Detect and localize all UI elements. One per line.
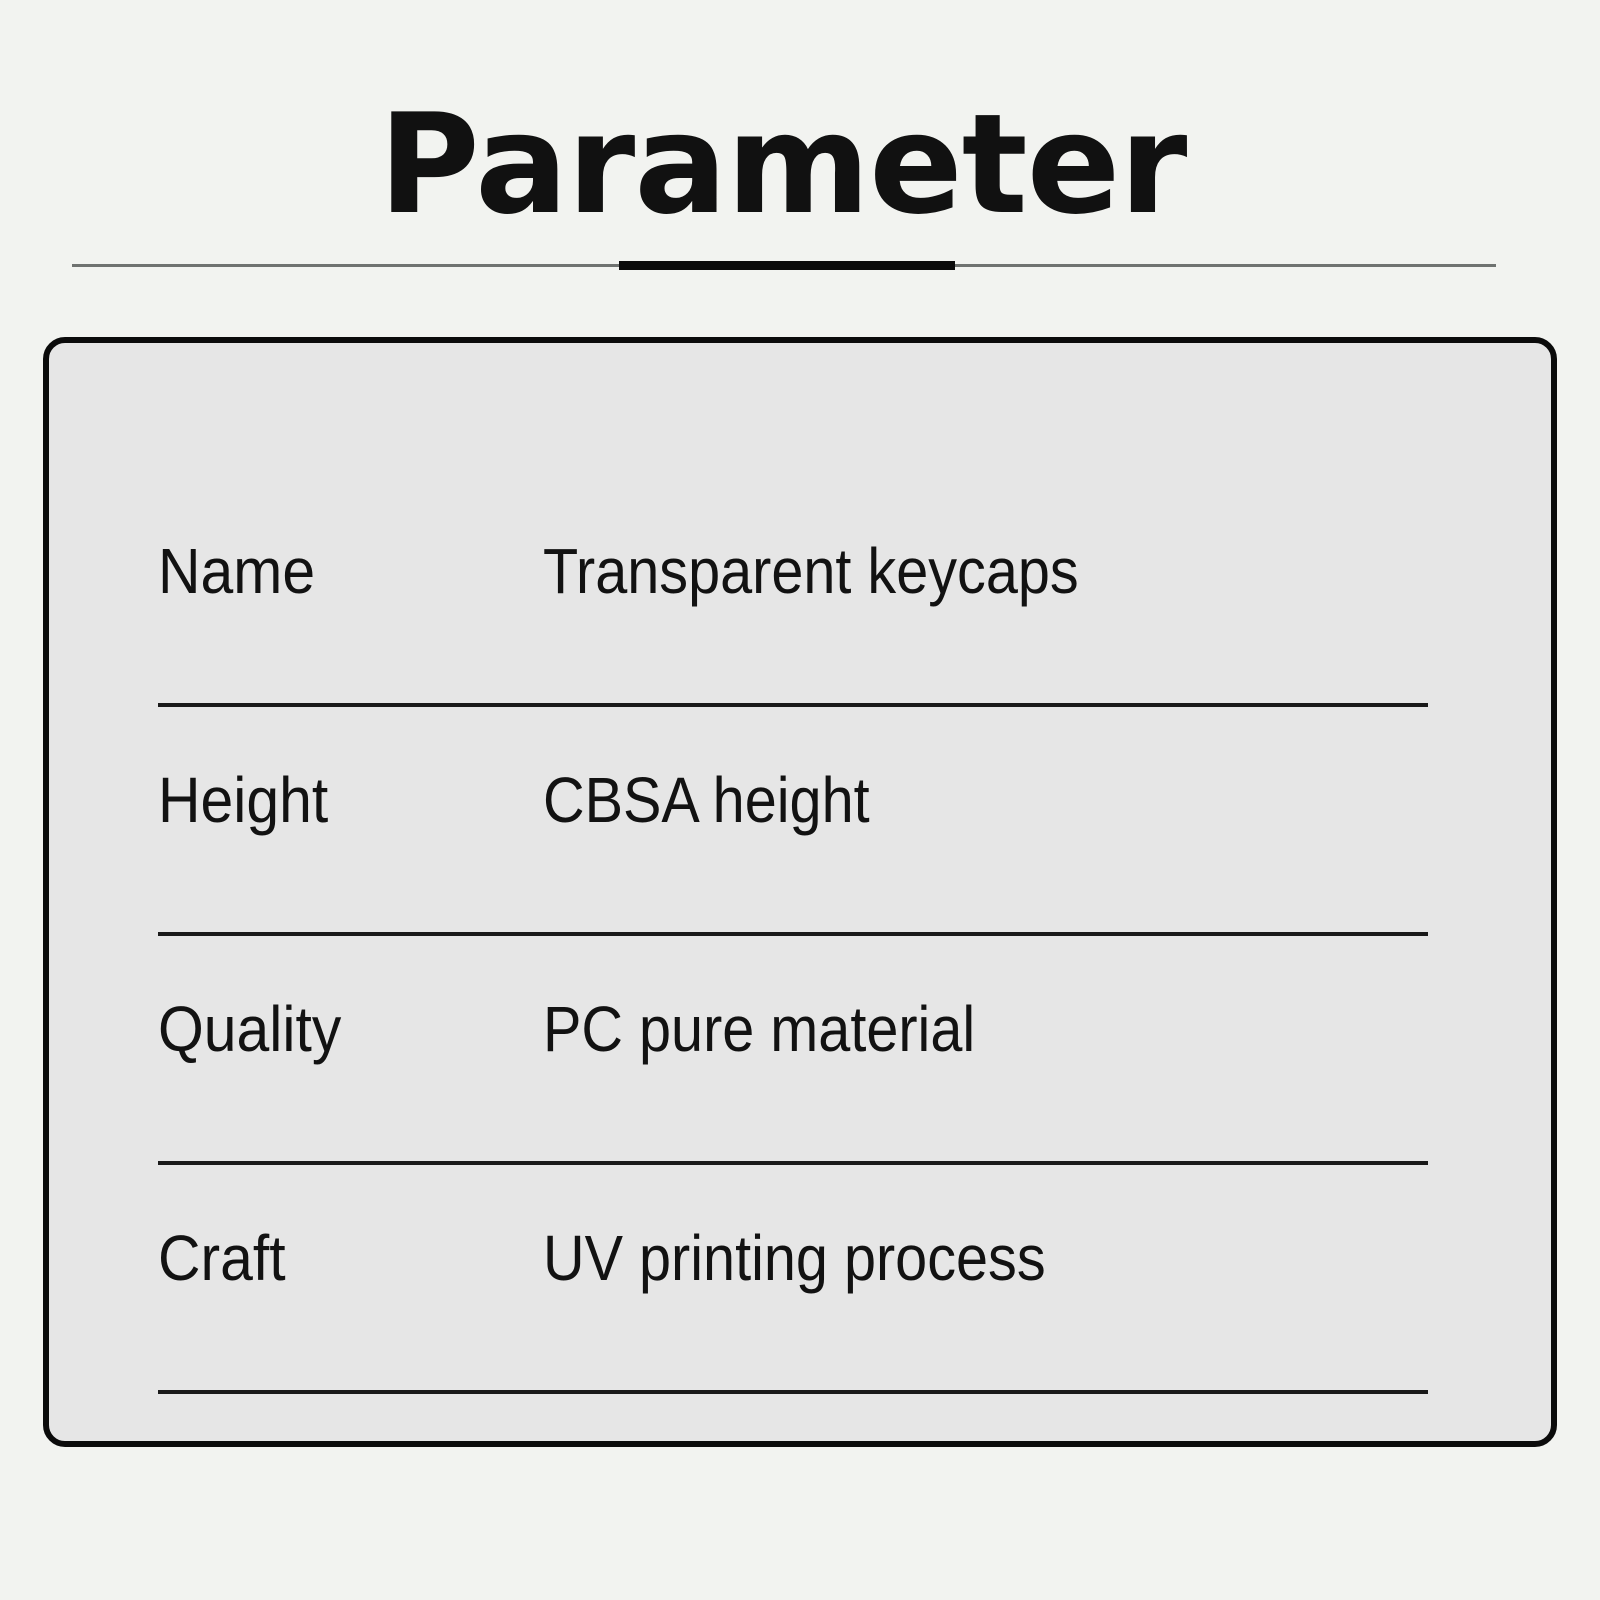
spec-value: Transparent keycaps <box>543 534 1340 608</box>
title-divider-accent <box>619 261 955 270</box>
spec-label: Name <box>158 534 512 608</box>
table-row-cells: Craft UV printing process <box>158 1165 1428 1350</box>
spec-label: Craft <box>158 1221 512 1295</box>
row-divider <box>158 1390 1428 1394</box>
parameter-spec-page: Parameter Name Transparent keycaps Heigh… <box>0 0 1600 1600</box>
table-row: Height CBSA height <box>158 707 1428 936</box>
table-row-cells: Height CBSA height <box>158 707 1428 892</box>
table-row: Craft UV printing process <box>158 1165 1428 1394</box>
spec-value: PC pure material <box>543 992 1340 1066</box>
spec-label: Height <box>158 763 512 837</box>
table-row: Name Transparent keycaps <box>158 478 1428 707</box>
page-header: Parameter <box>0 0 1600 300</box>
table-row: Quality PC pure material <box>158 936 1428 1165</box>
table-row-cells: Name Transparent keycaps <box>158 478 1428 663</box>
spec-value: CBSA height <box>543 763 1340 837</box>
spec-label: Quality <box>158 992 512 1066</box>
page-title: Parameter <box>0 96 1565 234</box>
specification-table: Name Transparent keycaps Height CBSA hei… <box>158 343 1428 1441</box>
spec-value: UV printing process <box>543 1221 1340 1295</box>
table-row-cells: Quality PC pure material <box>158 936 1428 1121</box>
specification-card: Name Transparent keycaps Height CBSA hei… <box>43 337 1557 1447</box>
